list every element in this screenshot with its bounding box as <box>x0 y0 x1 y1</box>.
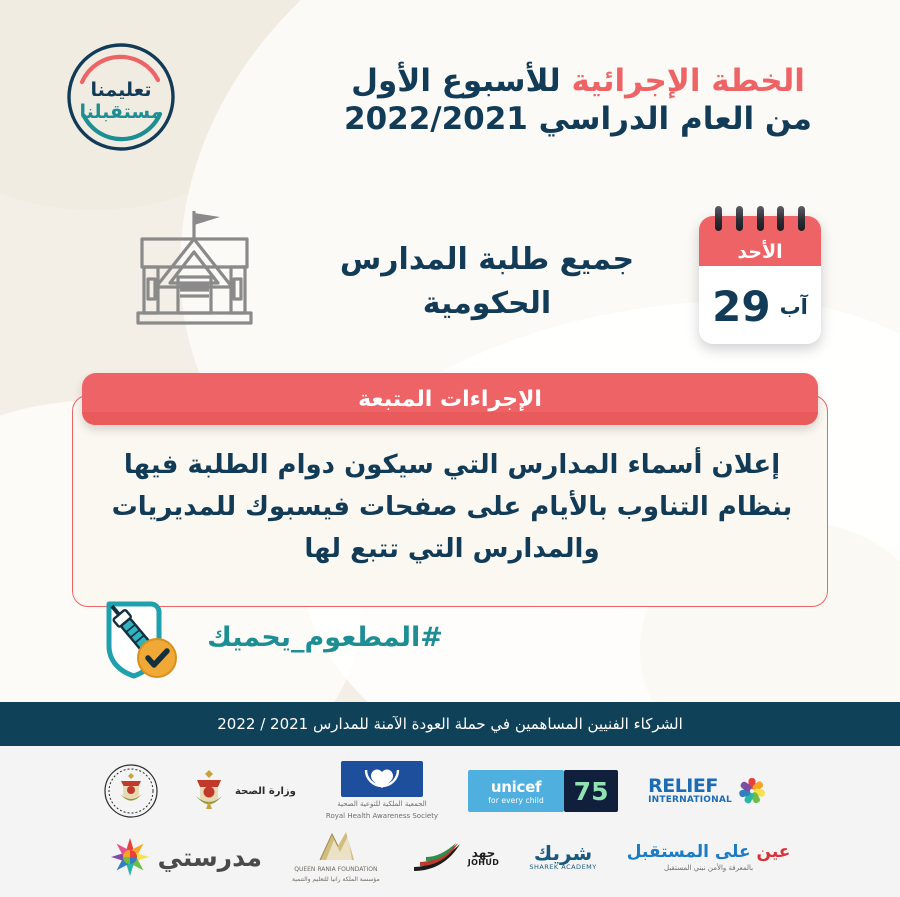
qrf-caption-ar: مؤسسة الملكة رانيا للتعليم والتنمية <box>292 876 380 884</box>
school-building-icon <box>122 205 267 335</box>
relief-main-text: RELIEF <box>648 777 732 796</box>
rhas-mark <box>341 761 423 797</box>
logo-johud: جهد JOHUD <box>410 828 500 886</box>
logo-relief-international: RELIEF INTERNATIONAL <box>648 762 767 820</box>
procedures-header-label: الإجراءات المتبعة <box>358 387 542 412</box>
shareek-en: SHAREK ACADEMY <box>529 863 596 871</box>
calendar-ring <box>757 206 764 231</box>
logo-queen-rania-foundation: QUEEN RANIA FOUNDATION مؤسسة الملكة راني… <box>292 828 380 886</box>
campaign-hashtag: #المطعوم_يحميك <box>200 622 450 653</box>
date-calendar: الأحد آب 29 <box>699 216 821 344</box>
moh-label: وزارة الصحة <box>235 786 296 797</box>
brand-logo: تعليمنا مستقبلنا <box>58 34 184 160</box>
partners-band: الشركاء الفنيين المساهمين في حملة العودة… <box>0 702 900 746</box>
calendar-rings <box>699 206 821 232</box>
headline-line-2: من العام الدراسي 2022/2021 <box>278 100 878 138</box>
unicef-75-badge: 75 <box>564 770 618 812</box>
headline-rest: للأسبوع الأول <box>351 63 571 99</box>
logo-unicef: unicef for every child 75 <box>468 762 618 820</box>
eof-main-b: على المستقبل <box>627 842 751 862</box>
calendar-day: 29 <box>712 286 770 328</box>
eof-caption: بالمعرفة والأمن نبني المستقبل <box>664 864 753 873</box>
poster-root: تعليمنا مستقبلنا الخطة الإجرائية للأسبوع… <box>0 0 900 897</box>
rhas-caption-en: Royal Health Awareness Society <box>326 812 438 821</box>
calendar-ring <box>736 206 743 231</box>
ministry-of-education-seal-icon <box>103 763 159 819</box>
johud-wing-icon <box>410 841 464 873</box>
unicef-tagline: for every child <box>488 796 544 805</box>
logo-ministry-of-education <box>103 762 159 820</box>
headline-line-1: الخطة الإجرائية للأسبوع الأول <box>278 62 878 100</box>
unicef-wordmark: unicef <box>491 778 541 796</box>
calendar-date: آب 29 <box>699 266 821 344</box>
relief-sub-text: INTERNATIONAL <box>648 796 732 805</box>
rhas-caption-ar: الجمعية الملكية للتوعية الصحية <box>337 800 427 809</box>
qrf-caption-en: QUEEN RANIA FOUNDATION <box>294 866 377 874</box>
jordan-emblem-icon <box>189 768 229 814</box>
johud-en: JOHUD <box>468 859 500 867</box>
calendar-ring <box>777 206 784 231</box>
brand-logo-line2: مستقبلنا <box>80 101 163 123</box>
logo-madrasati: مدرستي <box>110 828 262 886</box>
logo-royal-health-awareness-society: الجمعية الملكية للتوعية الصحية Royal Hea… <box>326 762 438 820</box>
page-title: الخطة الإجرائية للأسبوع الأول من العام ا… <box>278 62 878 139</box>
rhas-heart-icon <box>358 766 406 792</box>
eof-main-a: عين <box>757 842 791 862</box>
partner-logo-row-1: RELIEF INTERNATIONAL unicef for every ch… <box>0 760 900 822</box>
logo-shareek-academy: شريك SHAREK ACADEMY <box>529 828 596 886</box>
qrf-mark-icon <box>314 830 358 864</box>
vaccine-shield-icon <box>95 590 187 685</box>
partner-logo-row-2: عين على المستقبل بالمعرفة والأمن نبني ال… <box>0 826 900 888</box>
madrasati-wordmark: مدرستي <box>158 843 262 872</box>
shareek-ar: شريك <box>534 843 592 863</box>
calendar-ring <box>715 206 722 231</box>
procedures-body: إعلان أسماء المدارس التي سيكون دوام الطل… <box>96 444 808 570</box>
procedures-line-2: بنظام التناوب بالأيام على صفحات فيسبوك ل… <box>96 486 808 528</box>
procedures-header: الإجراءات المتبعة <box>82 373 818 425</box>
partners-title: الشركاء الفنيين المساهمين في حملة العودة… <box>217 715 683 733</box>
procedures-line-3: والمدارس التي تتبع لها <box>96 528 808 570</box>
madrasati-star-icon <box>110 837 150 877</box>
calendar-ring <box>798 206 805 231</box>
audience-label: جميع طلبة المدارس الحكومية <box>317 238 657 325</box>
headline-accent: الخطة الإجرائية <box>571 63 804 99</box>
relief-flower-icon <box>737 776 767 806</box>
brand-logo-line1: تعليمنا <box>91 79 152 101</box>
logo-ministry-of-health: وزارة الصحة <box>189 762 296 820</box>
calendar-month: آب <box>780 295 808 319</box>
procedures-line-1: إعلان أسماء المدارس التي سيكون دوام الطل… <box>96 444 808 486</box>
logo-eye-on-the-future: عين على المستقبل بالمعرفة والأمن نبني ال… <box>627 828 791 886</box>
